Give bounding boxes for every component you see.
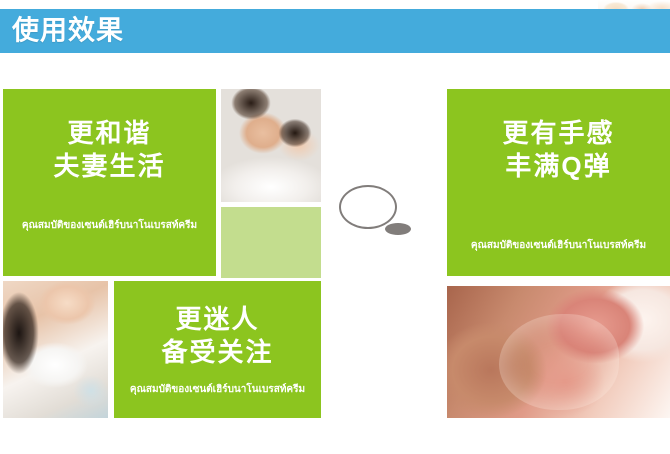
panel-charm-subline: คุณสมบัติของเซนต์เฮิร์บนาโนเบรสท์ครีม bbox=[114, 384, 321, 396]
panel-charm-headline: 更迷人 备受关注 bbox=[114, 303, 321, 370]
panel-firmness-subline: คุณสมบัติของเซนต์เฮิร์บนาโนเบรสท์ครีม bbox=[447, 240, 670, 252]
header-band: 使用效果 bbox=[0, 9, 670, 53]
panel-firmness: 更有手感 丰满Q弹 คุณสมบัติของเซนต์เฮิร์บนาโนเบร… bbox=[447, 89, 670, 276]
photo-woman-touching-chest-art bbox=[325, 89, 444, 418]
panel-harmony-subline: คุณสมบัติของเซนต์เฮิร์บนาโนเบรสท์ครีม bbox=[3, 220, 216, 232]
photo-hands-on-skin-art bbox=[447, 286, 670, 418]
panel-charm: 更迷人 备受关注 คุณสมบัติของเซนต์เฮิร์บนาโนเบรส… bbox=[114, 281, 321, 418]
photo-couple-in-bed-art bbox=[221, 89, 321, 202]
photo-woman-in-white-bra bbox=[3, 281, 108, 418]
photo-hands-on-skin bbox=[447, 286, 670, 418]
photo-woman-touching-chest bbox=[325, 89, 444, 418]
top-right-image-fragment bbox=[598, 0, 670, 9]
photo-woman-in-white-bra-art bbox=[3, 281, 108, 418]
photo-couple-in-bed bbox=[221, 89, 321, 202]
panel-firmness-headline: 更有手感 丰满Q弹 bbox=[447, 117, 670, 184]
panel-harmony-headline: 更和谐 夫妻生活 bbox=[3, 117, 216, 184]
collage-grid: 更和谐 夫妻生活 คุณสมบัติของเซนต์เฮิร์บนาโนเบรส… bbox=[0, 89, 670, 418]
top-sliver bbox=[0, 0, 670, 9]
light-green-filler-block bbox=[221, 207, 321, 278]
page-title: 使用效果 bbox=[12, 18, 124, 45]
panel-harmony: 更和谐 夫妻生活 คุณสมบัติของเซนต์เฮิร์บนาโนเบรส… bbox=[3, 89, 216, 276]
